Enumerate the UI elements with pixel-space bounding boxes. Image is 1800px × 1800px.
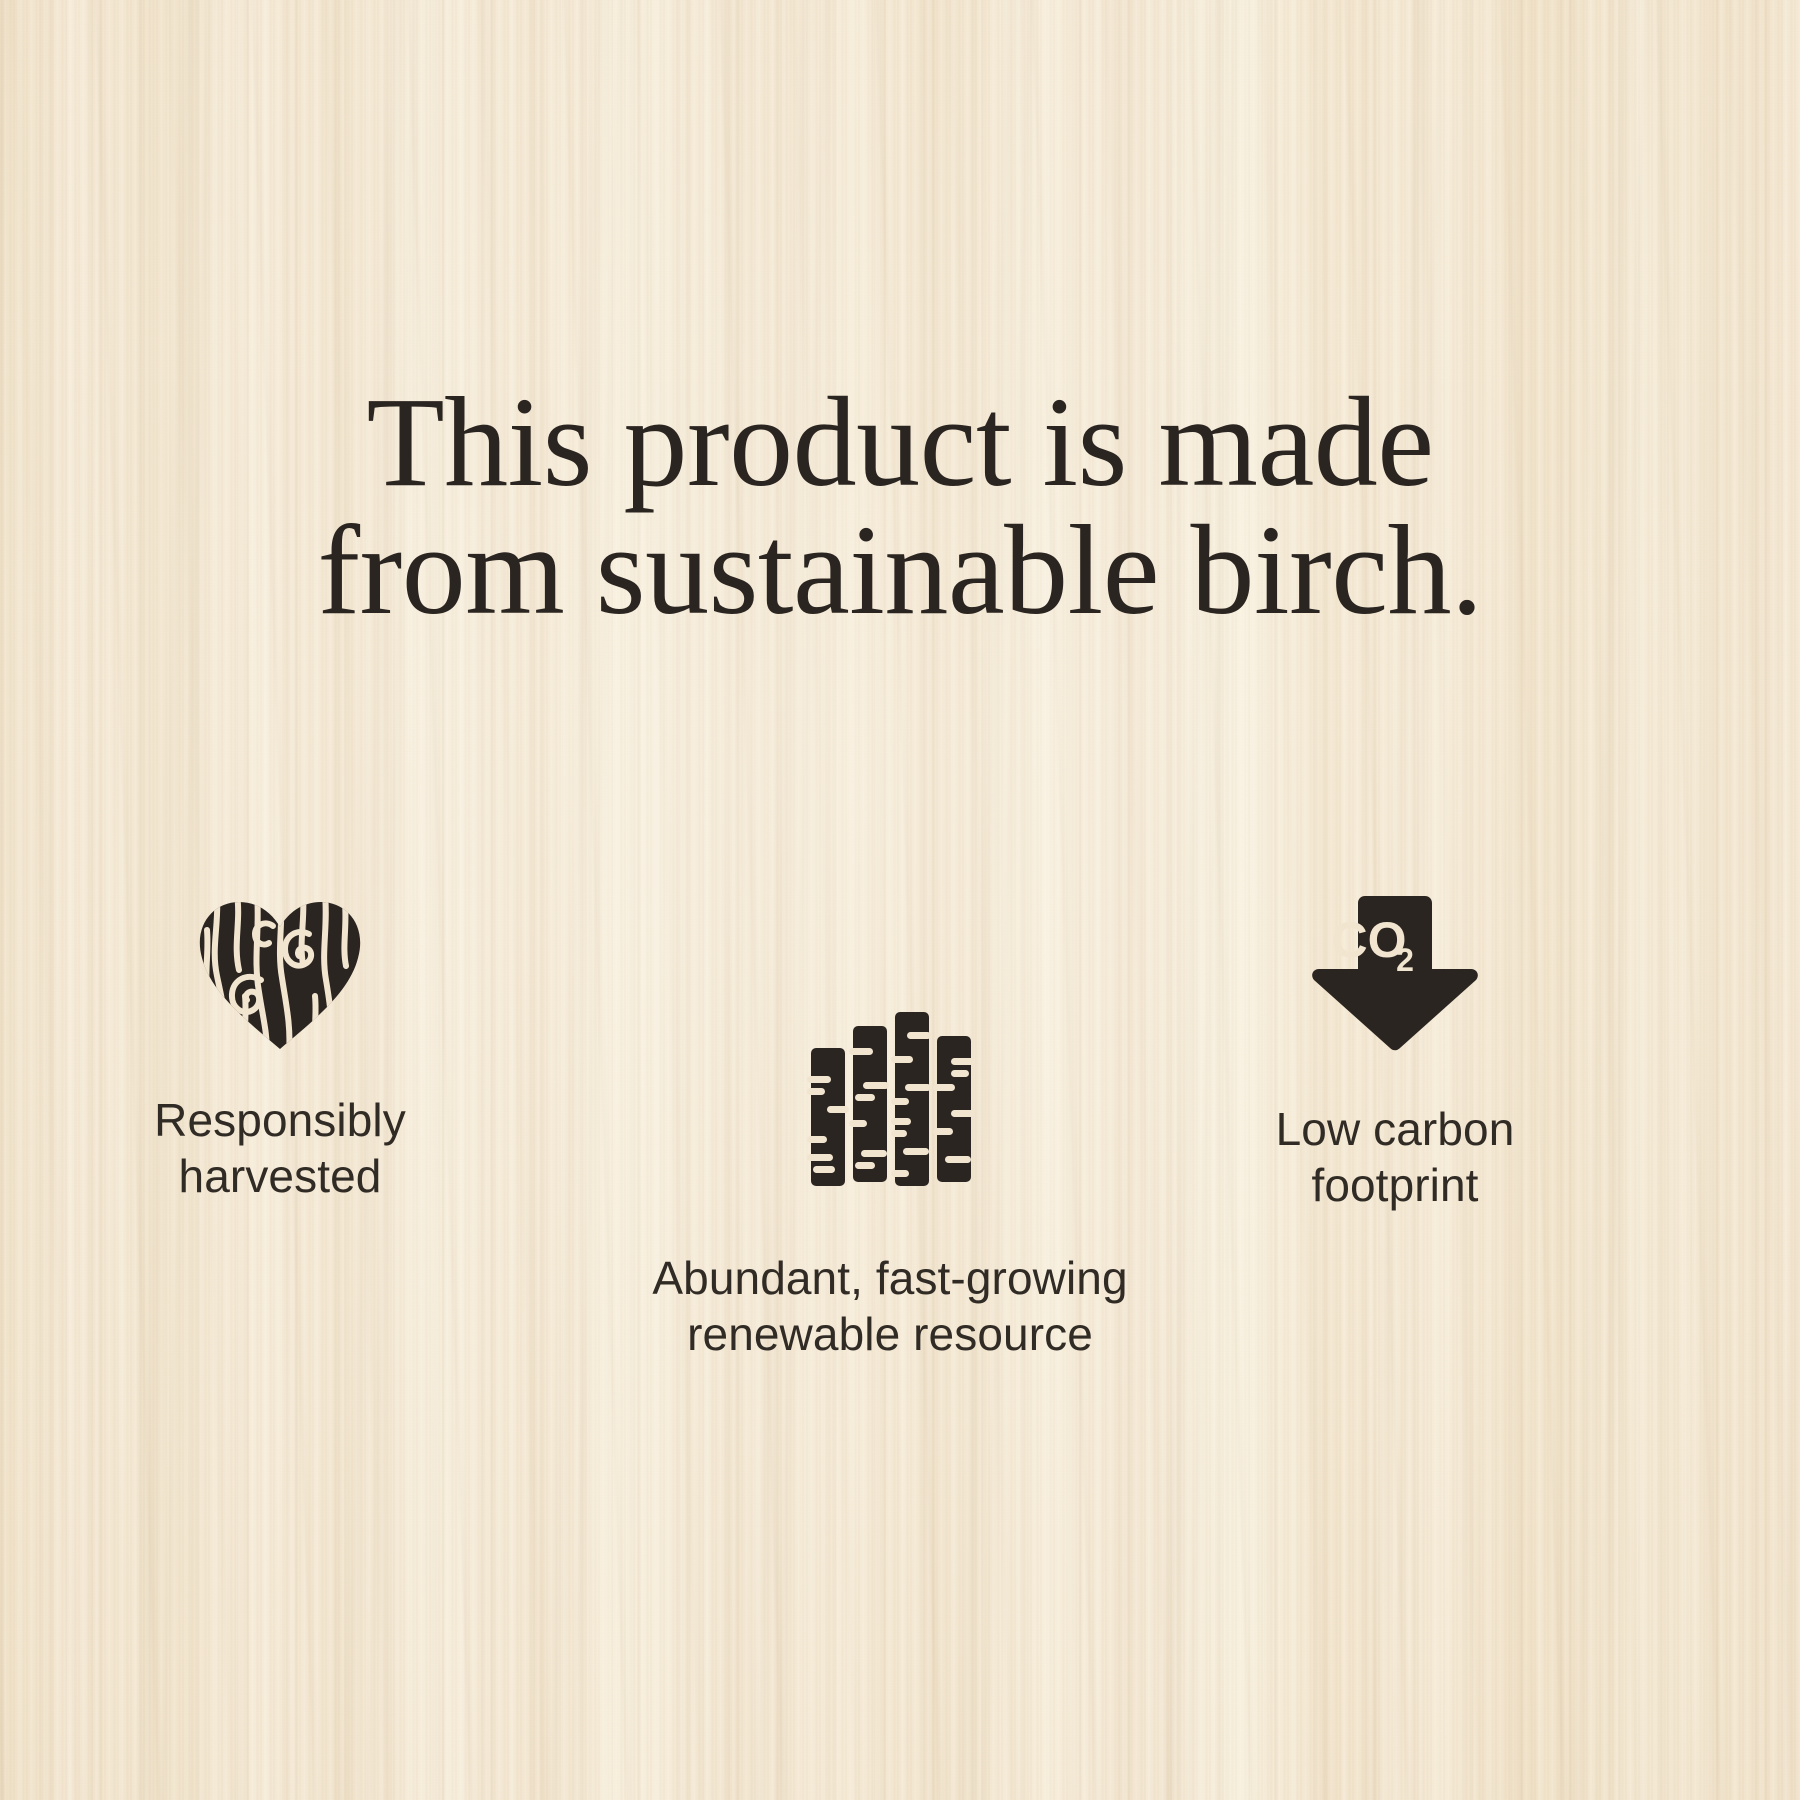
feature-label: Low carbon footprint <box>1080 1101 1710 1213</box>
poster-content: This product is made from sustainable bi… <box>0 0 1800 1800</box>
co2-down-arrow-icon: CO 2 <box>1311 895 1479 1053</box>
woodgrain-heart-icon <box>197 900 363 1050</box>
feature-label: Responsibly harvested <box>85 1092 475 1204</box>
feature-low-carbon-footprint: CO 2 Low carbon footprint <box>1080 895 1710 1213</box>
feature-list: Responsibly harvested <box>0 790 1800 1350</box>
feature-responsibly-harvested: Responsibly harvested <box>85 900 475 1204</box>
birch-trunks-icon <box>805 1010 975 1188</box>
page-title: This product is made from sustainable bi… <box>0 378 1800 634</box>
headline-line-2: from sustainable birch. <box>0 506 1800 634</box>
co2-subscript: 2 <box>1396 942 1414 978</box>
headline-line-1: This product is made <box>0 378 1800 506</box>
feature-label: Abundant, fast-growing renewable resourc… <box>600 1250 1180 1362</box>
